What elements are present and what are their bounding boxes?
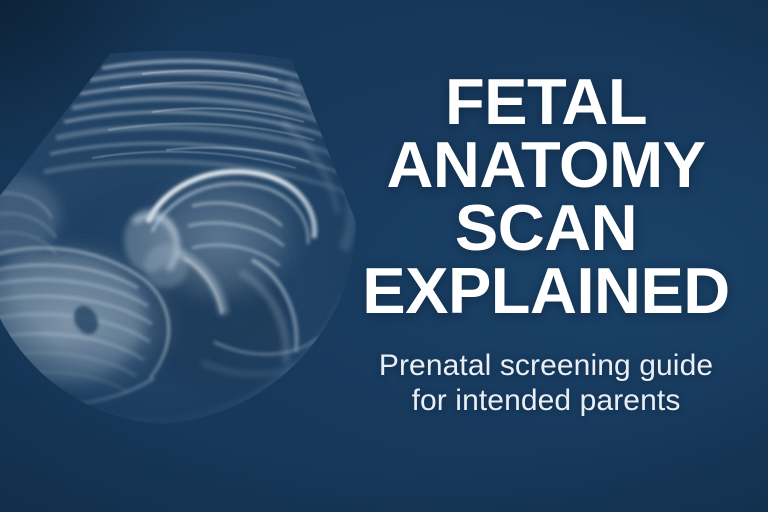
subtitle-line-1: Prenatal screening guide: [346, 348, 746, 383]
ultrasound-svg: [0, 26, 404, 446]
page-title: FETAL ANATOMY SCAN EXPLAINED: [346, 70, 746, 322]
poster-text-block: FETAL ANATOMY SCAN EXPLAINED Prenatal sc…: [346, 70, 746, 418]
fetal-ultrasound-image: [0, 26, 404, 446]
subtitle-line-2: for intended parents: [346, 383, 746, 418]
page-subtitle: Prenatal screening guide for intended pa…: [346, 322, 746, 418]
headline-line-1: FETAL: [346, 70, 746, 133]
headline-line-4: EXPLAINED: [346, 259, 746, 322]
headline-line-2: ANATOMY: [346, 133, 746, 196]
poster-canvas: FETAL ANATOMY SCAN EXPLAINED Prenatal sc…: [0, 0, 768, 512]
headline-line-3: SCAN: [346, 196, 746, 259]
